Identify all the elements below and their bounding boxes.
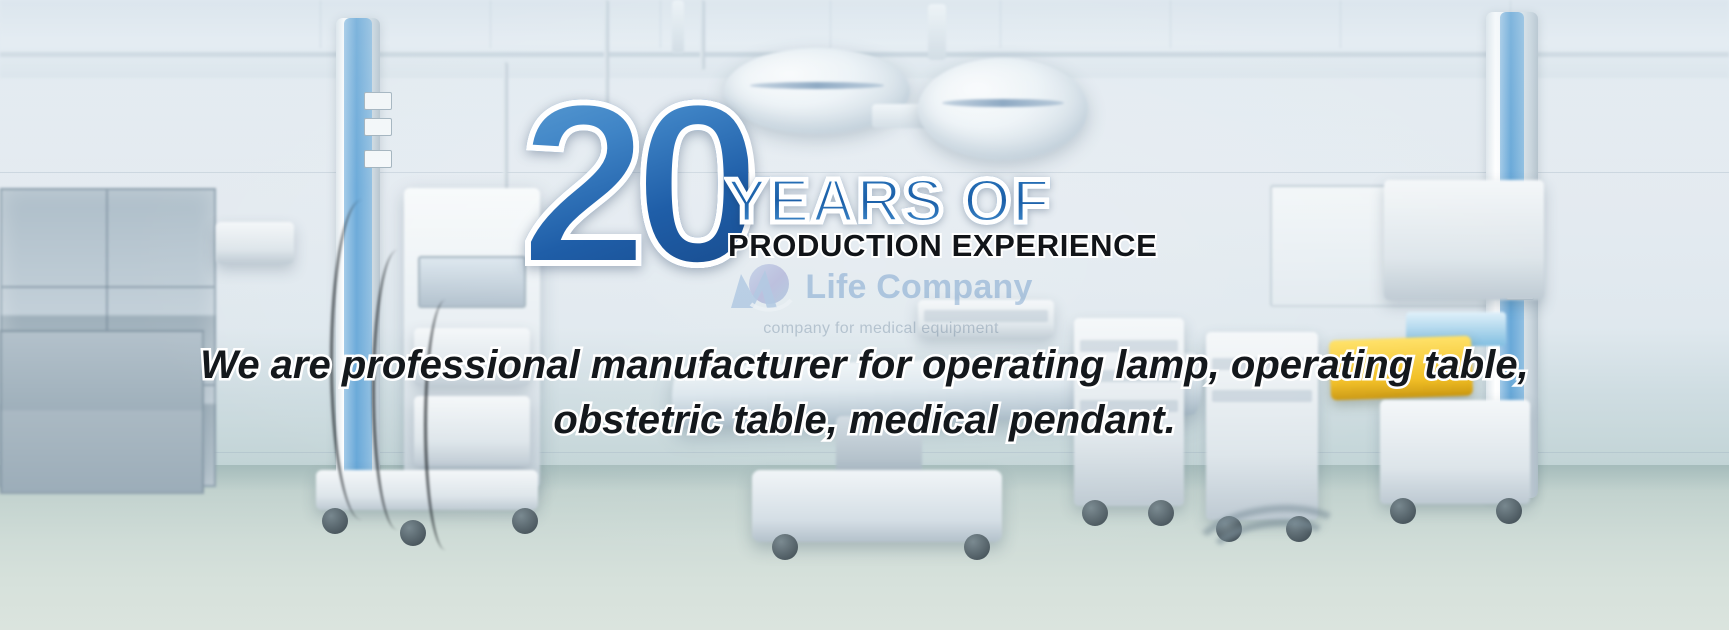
- subheadline: PRODUCTION EXPERIENCE: [728, 228, 1157, 264]
- surgical-lamp-right: [918, 58, 1088, 160]
- caster-wheel: [1496, 498, 1522, 524]
- lamp-arm: [928, 4, 946, 60]
- caster-wheel: [1148, 500, 1174, 526]
- control-console: [918, 300, 1054, 338]
- outlet: [364, 150, 392, 168]
- tagline: We are professional manufacturer for ope…: [0, 338, 1729, 448]
- tagline-line-1: We are professional manufacturer for ope…: [200, 343, 1528, 387]
- outlet: [364, 92, 392, 110]
- equipment-shelf-right: [1384, 180, 1544, 300]
- hero-banner: Life Company company for medical equipme…: [0, 0, 1729, 630]
- caster-wheel: [512, 508, 538, 534]
- operating-table-base: [752, 470, 1002, 542]
- caster-wheel: [1082, 500, 1108, 526]
- wall-device-left: [216, 222, 294, 264]
- caster-wheel: [1390, 498, 1416, 524]
- caster-wheel: [772, 534, 798, 560]
- outlet: [364, 118, 392, 136]
- tagline-line-2: obstetric table, medical pendant.: [0, 393, 1729, 448]
- caster-wheel: [322, 508, 348, 534]
- headline-number: 20: [520, 78, 748, 290]
- headline-suffix: YEARS OF: [726, 166, 1051, 237]
- lamp-arm: [672, 0, 684, 54]
- caster-wheel: [964, 534, 990, 560]
